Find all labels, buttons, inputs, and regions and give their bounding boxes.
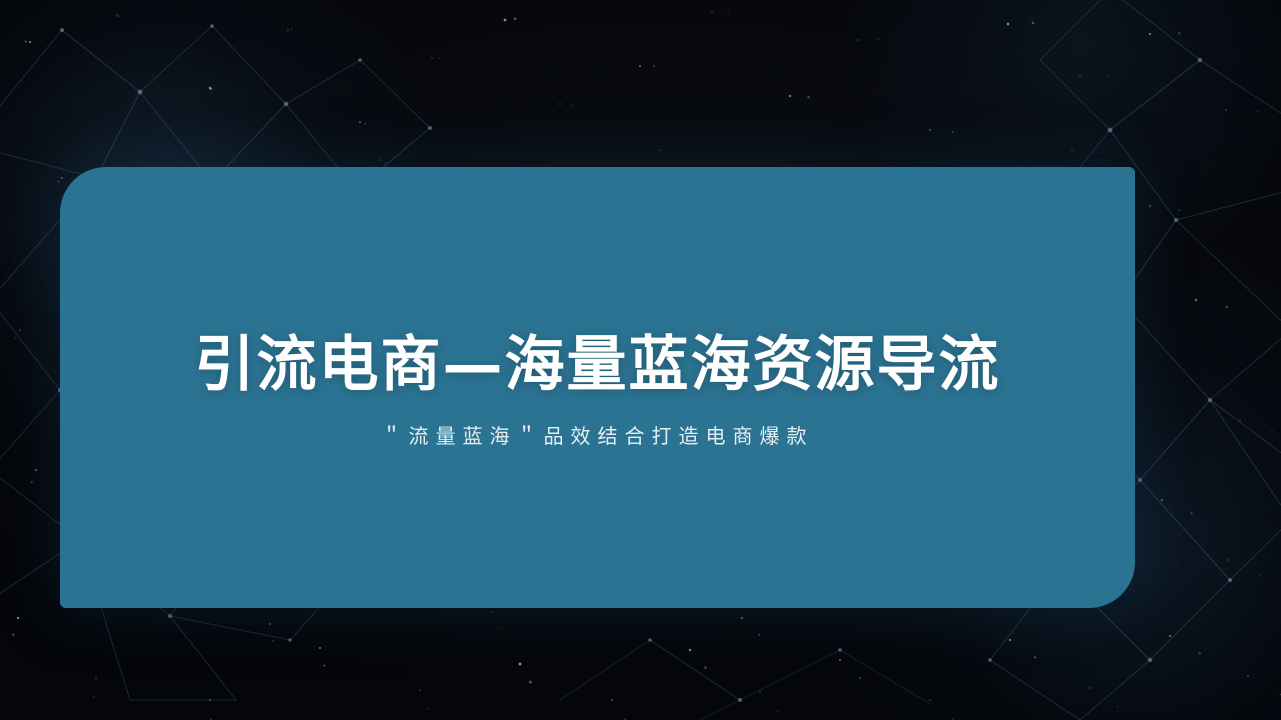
title-card-content: 引流电商—海量蓝海资源导流 ＂流量蓝海＂品效结合打造电商爆款: [60, 167, 1135, 608]
presentation-slide: 引流电商—海量蓝海资源导流 ＂流量蓝海＂品效结合打造电商爆款: [0, 0, 1281, 720]
slide-title: 引流电商—海量蓝海资源导流: [195, 332, 1001, 398]
title-card: 引流电商—海量蓝海资源导流 ＂流量蓝海＂品效结合打造电商爆款: [60, 167, 1135, 608]
slide-subtitle: ＂流量蓝海＂品效结合打造电商爆款: [382, 420, 814, 449]
